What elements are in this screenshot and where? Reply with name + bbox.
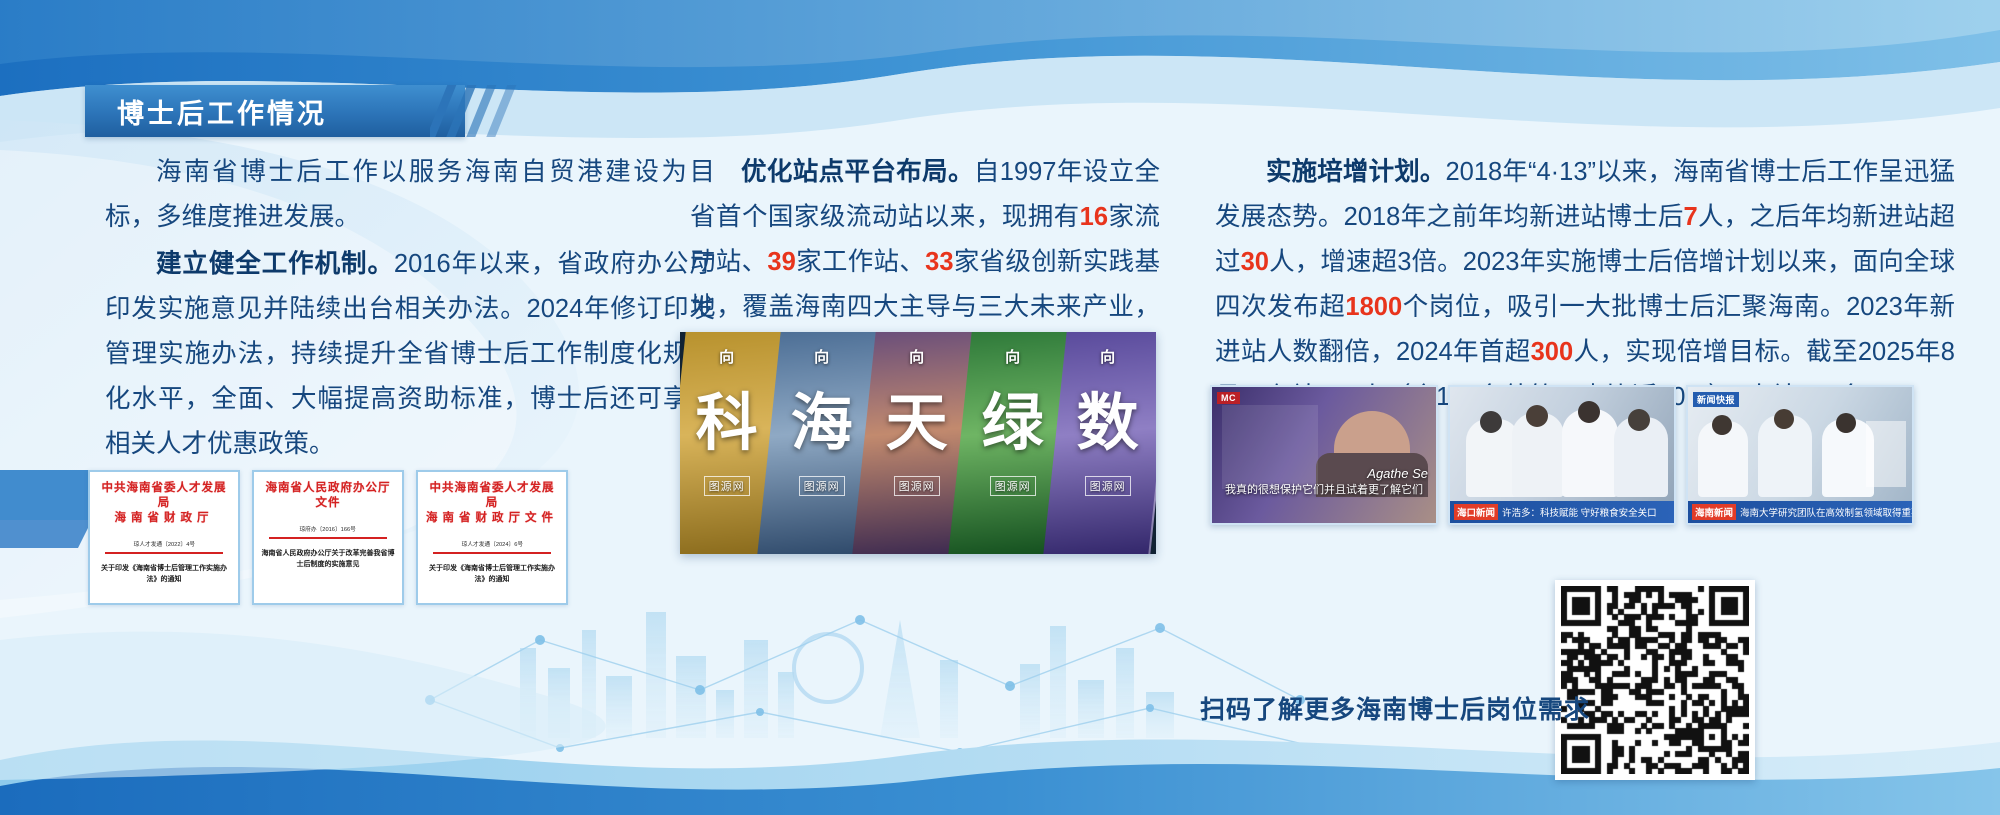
policy-document-cards: 中共海南省委人才发展局海南省财政厅琼人才发通〔2022〕4号关于印发《海南省博士… xyxy=(88,470,568,605)
news-subtitle: 我真的很想保护它们并且试着更了解它们 xyxy=(1212,481,1436,497)
page-title: 博士后工作情况 xyxy=(117,92,327,131)
document-issuer-line2: 海南省财政厅文件 xyxy=(425,511,559,526)
paragraph-text: 海南省博士后工作以服务海南自贸港建设为目标，多维度推进发展。 xyxy=(105,158,715,231)
paragraph: 建立健全工作机制。2016年以来，省政府办公厅印发实施意见并陆续出台相关办法。2… xyxy=(105,242,715,467)
news-thumbnail[interactable]: 新闻快报海南新闻海南大学研究团队在高效制氢领域取得重要进展 xyxy=(1686,385,1914,525)
paragraph-text: 2016年以来，省政府办公厅印发实施意见并陆续出台相关办法。2024年修订印发管… xyxy=(105,250,715,458)
banner-panel-large-text: 数 xyxy=(1076,372,1138,462)
news-thumbnail[interactable]: 海口新闻许浩多：科技赋能 守好粮食安全关口 xyxy=(1448,385,1676,525)
banner-panel-large-text: 绿 xyxy=(981,372,1043,462)
news-lower-third: 海口新闻许浩多：科技赋能 守好粮食安全关口 xyxy=(1450,501,1674,523)
document-title: 海南省人民政府办公厅关于改革完善我省博士后制度的实施意见 xyxy=(261,548,395,570)
news-ticker-tag: 海口新闻 xyxy=(1454,504,1498,520)
highlight-number: 7 xyxy=(1684,203,1698,231)
news-thumbnail-row: MCAgathe Se我真的很想保护它们并且试着更了解它们海口新闻许浩多：科技赋… xyxy=(1210,385,1914,525)
banner-panel-large-text: 海 xyxy=(791,372,853,462)
infographic-poster: 博士后工作情况 海南省博士后工作以服务海南自贸港建设为目标，多维度推进发展。建立… xyxy=(0,0,2000,815)
qr-code[interactable] xyxy=(1555,580,1755,780)
document-number: 琼府办〔2016〕166号 xyxy=(300,524,356,533)
news-channel-logo: MC xyxy=(1217,392,1240,404)
news-thumbnail[interactable]: MCAgathe Se我真的很想保护它们并且试着更了解它们 xyxy=(1210,385,1438,525)
highlight-number: 33 xyxy=(925,248,953,276)
qr-caption: 扫码了解更多海南博士后岗位需求 xyxy=(1200,690,1590,726)
document-issuer-line1: 海南省人民政府办公厅文件 xyxy=(266,482,391,509)
banner-panel-small-text: 向 xyxy=(1100,346,1115,367)
document-title: 关于印发《海南省博士后管理工作实施办法》的通知 xyxy=(97,563,231,585)
qr-code-canvas xyxy=(1561,586,1749,774)
highlight-number: 300 xyxy=(1531,338,1574,366)
news-ticker-tag: 海南新闻 xyxy=(1692,504,1736,520)
banner-panel-tag: 图源网 xyxy=(989,476,1035,496)
highlight-number: 1800 xyxy=(1345,293,1402,321)
highlight-number: 16 xyxy=(1080,203,1108,231)
title-slash-decoration xyxy=(430,85,550,137)
banner-panel-small-text: 向 xyxy=(719,346,734,367)
document-title: 关于印发《海南省博士后管理工作实施办法》的通知 xyxy=(425,563,559,585)
document-issuer-line1: 中共海南省委人才发展局 xyxy=(102,482,227,509)
document-divider xyxy=(433,552,551,554)
news-channel-logo: 新闻快报 xyxy=(1693,392,1739,407)
campaign-banner-image: 向科图源网向海图源网向天图源网向绿图源网向数图源网 xyxy=(680,332,1156,554)
left-text-column: 海南省博士后工作以服务海南自贸港建设为目标，多维度推进发展。建立健全工作机制。2… xyxy=(105,150,715,469)
document-issuer: 中共海南省委人才发展局海南省财政厅 xyxy=(97,481,231,526)
paragraph-lead: 优化站点平台布局。 xyxy=(741,158,974,186)
banner-panel-tag: 图源网 xyxy=(704,476,750,496)
paragraph-lead: 实施培增计划。 xyxy=(1266,158,1446,186)
highlight-number: 30 xyxy=(1241,248,1269,276)
banner-panel-tag: 图源网 xyxy=(799,476,845,496)
policy-document-card: 中共海南省委人才发展局海南省财政厅文件琼人才发通〔2024〕6号关于印发《海南省… xyxy=(416,470,568,605)
document-number: 琼人才发通〔2024〕6号 xyxy=(461,539,522,548)
document-issuer-line1: 中共海南省委人才发展局 xyxy=(430,482,555,509)
banner-panel-small-text: 向 xyxy=(814,346,829,367)
document-issuer: 中共海南省委人才发展局海南省财政厅文件 xyxy=(425,481,559,526)
page-title-banner: 博士后工作情况 xyxy=(85,85,465,137)
news-ticker-text: 海南大学研究团队在高效制氢领域取得重要进展 xyxy=(1740,505,1912,519)
document-issuer-line2: 海南省财政厅 xyxy=(97,511,231,526)
paragraph: 海南省博士后工作以服务海南自贸港建设为目标，多维度推进发展。 xyxy=(105,150,715,240)
banner-panel-small-text: 向 xyxy=(909,346,924,367)
banner-panel-large-text: 天 xyxy=(886,372,948,462)
banner-panel-tag: 图源网 xyxy=(894,476,940,496)
banner-panel-large-text: 科 xyxy=(696,372,758,462)
news-speaker-name: Agathe Se xyxy=(1367,466,1428,481)
paragraph-lead: 建立健全工作机制。 xyxy=(156,250,394,278)
policy-document-card: 中共海南省委人才发展局海南省财政厅琼人才发通〔2022〕4号关于印发《海南省博士… xyxy=(88,470,240,605)
news-lower-third: 海南新闻海南大学研究团队在高效制氢领域取得重要进展 xyxy=(1688,501,1912,523)
banner-panel-tag: 图源网 xyxy=(1084,476,1130,496)
document-issuer: 海南省人民政府办公厅文件 xyxy=(261,481,395,511)
document-divider xyxy=(269,537,387,539)
news-thumbnail-photo xyxy=(1212,387,1436,523)
highlight-number: 39 xyxy=(767,248,795,276)
paragraph: 实施培增计划。2018年“4·13”以来，海南省博士后工作呈迅猛发展态势。201… xyxy=(1215,150,1955,420)
policy-document-card: 海南省人民政府办公厅文件琼府办〔2016〕166号海南省人民政府办公厅关于改革完… xyxy=(252,470,404,605)
document-number: 琼人才发通〔2022〕4号 xyxy=(133,539,194,548)
banner-panel-small-text: 向 xyxy=(1005,346,1020,367)
right-text-column: 实施培增计划。2018年“4·13”以来，海南省博士后工作呈迅猛发展态势。201… xyxy=(1215,150,1955,422)
document-divider xyxy=(105,552,223,554)
paragraph-text: 家工作站、 xyxy=(796,248,925,276)
news-ticker-text: 许浩多：科技赋能 守好粮食安全关口 xyxy=(1502,505,1657,519)
